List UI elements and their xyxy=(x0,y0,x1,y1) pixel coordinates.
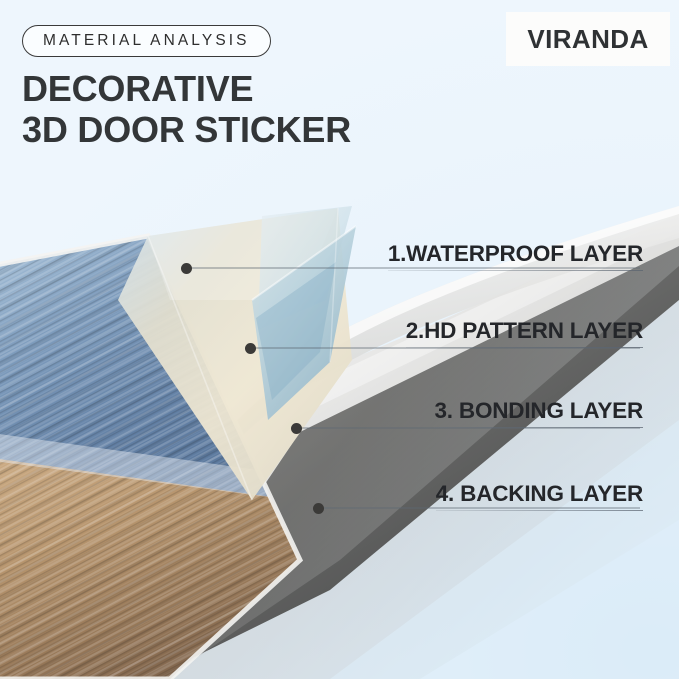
callout-hd-pattern-layer: 2.HD PATTERN LAYER xyxy=(406,318,643,348)
title-line-2: 3D DOOR STICKER xyxy=(22,109,351,150)
brand-logo: VIRANDA xyxy=(506,12,670,66)
callout-underline xyxy=(434,427,643,428)
callout-underline xyxy=(406,347,643,348)
callout-underline xyxy=(388,270,643,271)
callout-underline xyxy=(436,510,643,511)
callout-dot-backing xyxy=(313,503,324,514)
badge-label: MATERIAL ANALYSIS xyxy=(43,32,250,50)
callout-dot-bonding xyxy=(291,423,302,434)
callout-label: 1.WATERPROOF LAYER xyxy=(388,241,643,267)
callout-waterproof-layer: 1.WATERPROOF LAYER xyxy=(388,241,643,271)
page-title: DECORATIVE 3D DOOR STICKER xyxy=(22,68,351,150)
poster-canvas: MATERIAL ANALYSIS DECORATIVE 3D DOOR STI… xyxy=(0,0,679,679)
callout-label: 2.HD PATTERN LAYER xyxy=(406,318,643,344)
callout-bonding-layer: 3. BONDING LAYER xyxy=(434,398,643,428)
material-analysis-badge: MATERIAL ANALYSIS xyxy=(22,25,271,57)
callout-dot-hd-pattern xyxy=(245,343,256,354)
callout-label: 4. BACKING LAYER xyxy=(436,481,643,507)
callout-dot-waterproof xyxy=(181,263,192,274)
title-line-1: DECORATIVE xyxy=(22,68,253,109)
brand-name: VIRANDA xyxy=(527,24,648,55)
callout-backing-layer: 4. BACKING LAYER xyxy=(436,481,643,511)
callout-label: 3. BONDING LAYER xyxy=(434,398,643,424)
